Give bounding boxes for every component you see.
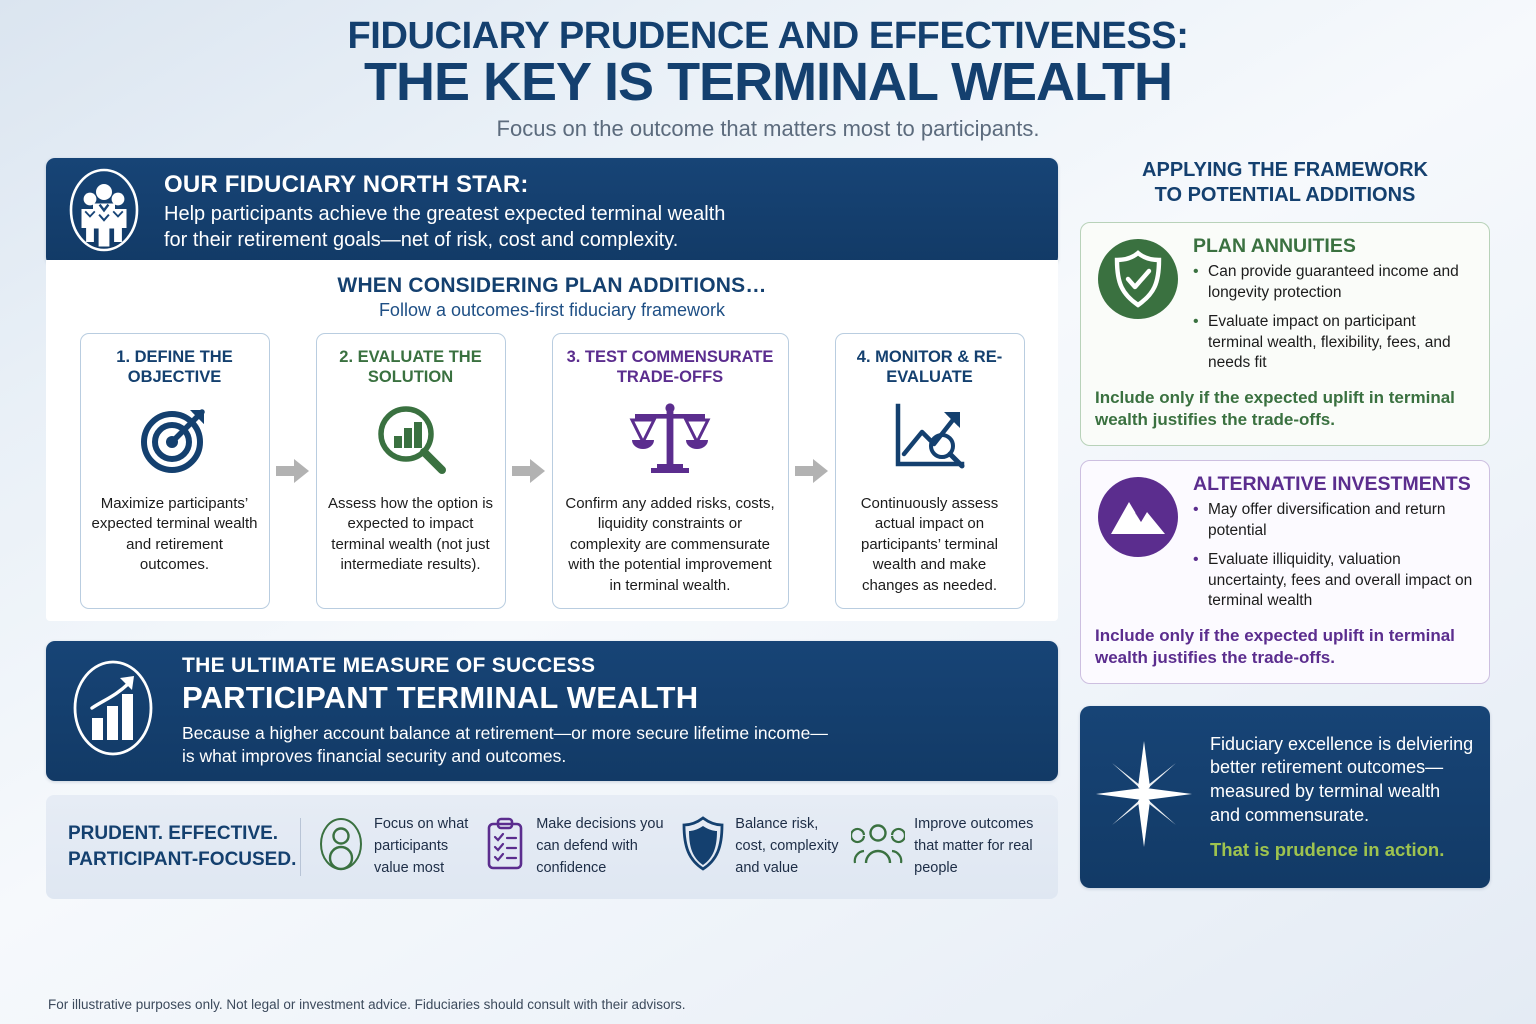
main-framework-column: OUR FIDUCIARY NORTH STAR: Help participa… [46, 158, 1058, 899]
applying-framework-column: APPLYING THE FRAMEWORK TO POTENTIAL ADDI… [1080, 158, 1490, 888]
card-bullet: May offer diversification and return pot… [1193, 500, 1475, 541]
ultimate-line2: is what improves financial security and … [182, 745, 828, 768]
card-footer: Include only if the expected uplift in t… [1095, 625, 1475, 669]
step-title: 1. DEFINE THE OBJECTIVE [91, 348, 259, 388]
north-star-banner: OUR FIDUCIARY NORTH STAR: Help participa… [46, 158, 1058, 266]
closing-text: Fiduciary excellence is delviering bette… [1210, 733, 1474, 828]
magnifier-bar-chart-icon [374, 402, 448, 476]
right-column-heading: APPLYING THE FRAMEWORK TO POTENTIAL ADDI… [1080, 158, 1490, 208]
value-item-label: Make decisions you can defend with confi… [536, 814, 680, 879]
framework-subheading: Follow a outcomes-first fiduciary framew… [62, 300, 1042, 321]
right-heading-line1: APPLYING THE FRAMEWORK [1080, 158, 1490, 183]
value-item-label: Focus on what participants value most [374, 814, 483, 879]
step-card-monitor-reevaluate[interactable]: 4. MONITOR & RE-EVALUATE Continuously as… [835, 333, 1025, 609]
step-body: Continuously assess actual impact on par… [846, 494, 1014, 596]
north-star-title: OUR FIDUCIARY NORTH STAR: [164, 171, 725, 199]
step-card-evaluate-solution[interactable]: 2. EVALUATE THE SOLUTION Assess [316, 333, 506, 609]
step-title: 2. EVALUATE THE SOLUTION [327, 348, 495, 388]
values-heading-line1: PRUDENT. EFFECTIVE. [68, 821, 300, 847]
shield-icon [680, 815, 726, 878]
framework-heading: WHEN CONSIDERING PLAN ADDITIONS… [62, 274, 1042, 298]
values-divider [300, 818, 301, 876]
right-arrow-icon [506, 333, 552, 609]
clipboard-checklist-icon [483, 816, 527, 877]
values-strip: PRUDENT. EFFECTIVE. PARTICIPANT-FOCUSED.… [46, 795, 1058, 899]
framework-heading-group: WHEN CONSIDERING PLAN ADDITIONS… Follow … [62, 274, 1042, 321]
right-heading-line2: TO POTENTIAL ADDITIONS [1080, 183, 1490, 208]
step-body: Confirm any added risks, costs, liquidit… [563, 494, 778, 596]
page-header: FIDUCIARY PRUDENCE AND EFFECTIVENESS: TH… [0, 0, 1536, 142]
card-bullet: Evaluate impact on participant terminal … [1193, 312, 1475, 374]
values-heading-line2: PARTICIPANT-FOCUSED. [68, 847, 300, 873]
right-arrow-icon [270, 333, 316, 609]
framework-steps: 1. DEFINE THE OBJECTIVE Maximize partici… [62, 333, 1042, 609]
north-star-line2: for their retirement goals—net of risk, … [164, 228, 725, 253]
values-heading: PRUDENT. EFFECTIVE. PARTICIPANT-FOCUSED. [68, 821, 300, 873]
step-title: 3. TEST COMMENSURATE TRADE-OFFS [563, 348, 778, 388]
page-title-line2: THE KEY IS TERMINAL WEALTH [0, 54, 1536, 110]
closing-accent: That is prudence in action. [1210, 839, 1474, 861]
value-item-focus: Focus on what participants value most [317, 814, 483, 879]
growth-bar-arrow-circle-icon [68, 656, 158, 765]
shield-check-circle-icon [1095, 236, 1181, 383]
trend-chart-magnifier-icon [890, 402, 970, 476]
value-item-label: Balance risk, cost, complexity and value [735, 814, 851, 879]
step-body: Maximize participants’ expected terminal… [91, 494, 259, 576]
value-item-label: Improve outcomes that matter for real pe… [914, 814, 1044, 879]
card-bullet-list: Can provide guaranteed income and longev… [1193, 262, 1475, 374]
compass-star-icon [1090, 735, 1198, 858]
balance-scale-icon [627, 402, 713, 476]
target-bullseye-icon [138, 402, 212, 476]
card-bullet: Can provide guaranteed income and longev… [1193, 262, 1475, 303]
value-item-decisions: Make decisions you can defend with confi… [483, 814, 680, 879]
right-arrow-icon [789, 333, 835, 609]
value-item-outcomes: Improve outcomes that matter for real pe… [851, 814, 1044, 879]
card-title: ALTERNATIVE INVESTMENTS [1193, 474, 1475, 495]
step-title: 4. MONITOR & RE-EVALUATE [846, 348, 1014, 388]
north-star-line1: Help participants achieve the greatest e… [164, 202, 725, 227]
card-bullet: Evaluate illiquidity, valuation uncertai… [1193, 550, 1475, 612]
people-group-circle-icon [66, 166, 142, 259]
card-plan-annuities[interactable]: PLAN ANNUITIES Can provide guaranteed in… [1080, 222, 1490, 446]
step-card-test-tradeoffs[interactable]: 3. TEST COMMENSURATE TRADE-OFFS [552, 333, 789, 609]
ultimate-title: PARTICIPANT TERMINAL WEALTH [182, 680, 828, 716]
card-title: PLAN ANNUITIES [1193, 236, 1475, 257]
ultimate-kicker: THE ULTIMATE MEASURE OF SUCCESS [182, 654, 828, 678]
person-circle-icon [317, 816, 365, 877]
ultimate-line1: Because a higher account balance at reti… [182, 722, 828, 745]
card-bullet-list: May offer diversification and return pot… [1193, 500, 1475, 612]
step-body: Assess how the option is expected to imp… [327, 494, 495, 576]
card-footer: Include only if the expected uplift in t… [1095, 387, 1475, 431]
page-subtitle: Focus on the outcome that matters most t… [0, 116, 1536, 142]
mountains-circle-icon [1095, 474, 1181, 621]
card-alternative-investments[interactable]: ALTERNATIVE INVESTMENTS May offer divers… [1080, 460, 1490, 684]
closing-statement-card: Fiduciary excellence is delviering bette… [1080, 706, 1490, 888]
ultimate-measure-banner: THE ULTIMATE MEASURE OF SUCCESS PARTICIP… [46, 641, 1058, 781]
step-card-define-objective[interactable]: 1. DEFINE THE OBJECTIVE Maximize partici… [80, 333, 270, 609]
value-item-balance: Balance risk, cost, complexity and value [680, 814, 851, 879]
people-group-icon [851, 819, 905, 874]
disclaimer-text: For illustrative purposes only. Not lega… [48, 997, 686, 1012]
framework-panel: WHEN CONSIDERING PLAN ADDITIONS… Follow … [46, 260, 1058, 621]
page-title-line1: FIDUCIARY PRUDENCE AND EFFECTIVENESS: [0, 16, 1536, 56]
